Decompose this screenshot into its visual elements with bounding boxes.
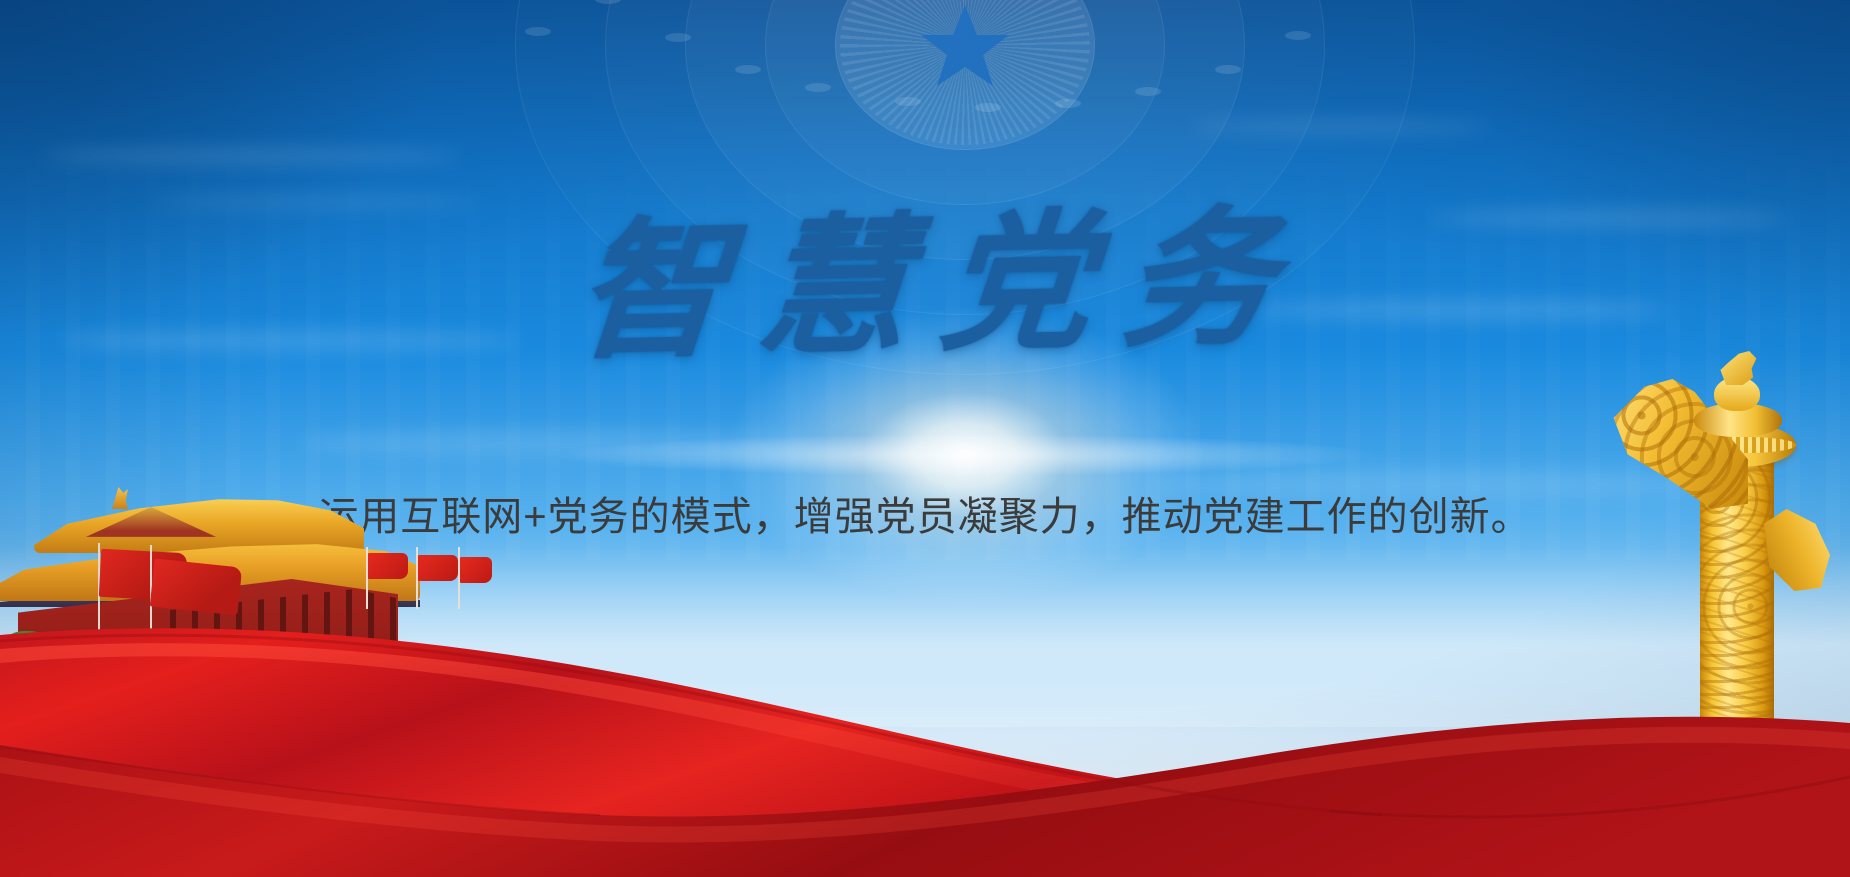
sun-horizontal-flare	[375, 425, 1555, 485]
red-flag	[368, 553, 408, 579]
cloud-wisp	[40, 148, 460, 164]
hero-banner: 智慧党务 运用互联网+党务的模式，增强党员凝聚力，推动党建工作的创新。	[0, 0, 1850, 877]
cloud-wisp	[150, 196, 480, 208]
red-silk-ribbon	[0, 597, 1850, 877]
roof-finial	[112, 487, 128, 509]
red-flag	[418, 555, 458, 581]
red-flag	[460, 557, 492, 583]
cloud-wisp	[1190, 120, 1490, 134]
